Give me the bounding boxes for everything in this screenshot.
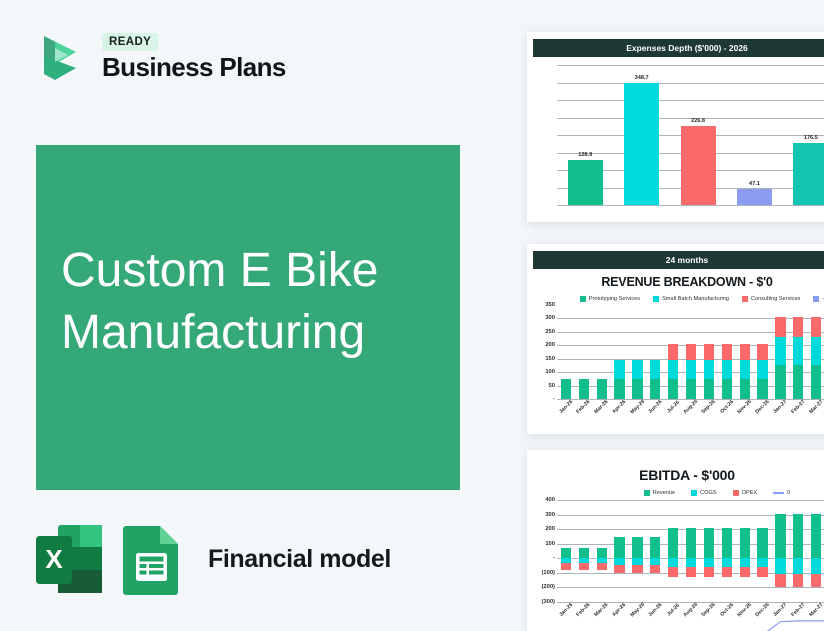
- bar-segment: [650, 537, 660, 558]
- bar-segment: [686, 528, 696, 558]
- x-axis-label: Mar-26: [594, 399, 610, 415]
- bar-segment: [614, 379, 624, 399]
- bar-value-label: 226.8: [691, 118, 705, 124]
- bar-segment: [704, 528, 714, 558]
- slide-root: READY Business Plans Custom E Bike Manuf…: [0, 0, 824, 631]
- stacked-bar[interactable]: [614, 500, 624, 602]
- page-title: Custom E Bike Manufacturing: [61, 240, 446, 365]
- chart1-header: Expenses Depth ($'000) - 2026: [533, 39, 824, 57]
- bar-segment: [811, 365, 821, 399]
- bar-segment: [686, 344, 696, 360]
- bar-value-label: 47.1: [749, 181, 760, 187]
- y-axis-tick: 50: [549, 383, 555, 389]
- x-axis-label: Dec-26: [754, 399, 770, 415]
- bar-segment: [775, 317, 785, 337]
- bar-slot: [575, 500, 593, 602]
- bar-segment: [668, 379, 678, 399]
- x-label-slot: Feb-26: [575, 602, 593, 613]
- bar[interactable]: 176.5: [793, 143, 824, 205]
- legend-item: Revenue: [644, 490, 675, 496]
- bar-segment: [793, 558, 803, 574]
- bar-segment: [614, 558, 624, 565]
- y-axis: 35030025020015010050-: [531, 305, 557, 399]
- stacked-bar[interactable]: [686, 500, 696, 602]
- x-label-slot: Oct-26: [718, 399, 736, 410]
- bar-slot: [736, 500, 754, 602]
- x-axis-label: Mar-26: [594, 602, 610, 618]
- bar-slot: 348.7: [613, 65, 669, 205]
- bar-segment: [775, 574, 785, 587]
- bar-segment: [704, 360, 714, 379]
- bar-slot: [754, 500, 772, 602]
- stacked-bar[interactable]: [775, 317, 785, 399]
- bar-segment: [722, 379, 732, 399]
- x-axis-label: Jan-26: [558, 602, 574, 618]
- bar-segment: [740, 379, 750, 399]
- bar-segment: [722, 567, 732, 577]
- bar-slot: 128.9: [557, 65, 613, 205]
- x-label-slot: Oct-26: [718, 602, 736, 613]
- bar-slot: [611, 305, 629, 399]
- gridline: [557, 205, 824, 206]
- x-label-slot: Aug-26: [682, 602, 700, 613]
- stacked-bar[interactable]: [740, 344, 750, 399]
- bar-segment: [614, 537, 624, 558]
- bar-slot: [593, 500, 611, 602]
- bar-segment: [561, 563, 571, 570]
- chart-card-revenue-breakdown[interactable]: 24 months REVENUE BREAKDOWN - $'0 Protot…: [527, 244, 824, 434]
- bar-segment: [632, 379, 642, 399]
- bar-slot: [629, 305, 647, 399]
- x-axis-label: Dec-26: [754, 602, 770, 618]
- x-axis-label: May-26: [629, 399, 646, 416]
- hero-panel: Custom E Bike Manufacturing: [36, 145, 460, 490]
- bar-segment: [704, 558, 714, 566]
- bar-segment: [579, 548, 589, 559]
- stacked-bar[interactable]: [686, 344, 696, 399]
- x-label-slot: Mar-26: [593, 602, 611, 613]
- bar-segment: [632, 558, 642, 565]
- x-label-slot: Sep-26: [700, 602, 718, 613]
- x-label-slot: Jul-26: [664, 602, 682, 613]
- y-axis-tick: 400: [545, 497, 555, 503]
- x-label-slot: Jan-27: [772, 602, 790, 613]
- legend-item: -: [813, 296, 824, 302]
- y-axis-tick: 100: [545, 541, 555, 547]
- bar-slot: [807, 305, 824, 399]
- x-label-slot: Aug-26: [682, 399, 700, 410]
- y-axis: 400300200100-(100)(200)(300): [531, 500, 557, 602]
- stacked-bar[interactable]: [704, 344, 714, 399]
- x-axis-label: Oct-26: [719, 399, 735, 415]
- y-axis-tick: 100: [545, 369, 555, 375]
- x-label-slot: Feb-27: [789, 399, 807, 410]
- bar-segment: [579, 379, 589, 399]
- stacked-bar[interactable]: [561, 379, 571, 399]
- x-label-slot: Apr-26: [611, 399, 629, 410]
- stacked-bar[interactable]: [811, 317, 821, 399]
- stacked-bar[interactable]: [757, 500, 767, 602]
- x-label-slot: May-26: [629, 602, 647, 613]
- x-axis-label: Feb-27: [790, 399, 806, 415]
- stacked-bar[interactable]: [757, 344, 767, 399]
- bar-segment: [632, 565, 642, 573]
- bar-slot: [682, 305, 700, 399]
- bar-slot: [700, 500, 718, 602]
- bar-slot: [593, 305, 611, 399]
- bar-slot: [718, 500, 736, 602]
- bar-segment: [704, 379, 714, 399]
- bar-segment: [668, 558, 678, 566]
- stacked-bar[interactable]: [632, 360, 642, 399]
- legend-swatch: [580, 296, 586, 302]
- bar-slot: [700, 305, 718, 399]
- legend-label: Revenue: [653, 490, 675, 496]
- stacked-bar[interactable]: [668, 500, 678, 602]
- y-axis-tick: 300: [545, 315, 555, 321]
- bar-segment: [668, 567, 678, 577]
- x-axis-label: Jan-26: [558, 399, 574, 415]
- bar-segment: [686, 558, 696, 566]
- stacked-bar[interactable]: [793, 500, 803, 602]
- legend-item: OPEX: [733, 490, 758, 496]
- x-label-slot: Jan-26: [557, 602, 575, 613]
- chart-card-expenses-depth[interactable]: Expenses Depth ($'000) - 2026 128.9348.7…: [527, 32, 824, 222]
- x-axis-label: Aug-26: [683, 399, 700, 416]
- stacked-bar[interactable]: [614, 360, 624, 399]
- bar-segment: [579, 563, 589, 570]
- legend-item: COGS: [691, 490, 716, 496]
- chart2-title: REVENUE BREAKDOWN - $'0: [527, 275, 824, 289]
- x-label-slot: Jun-26: [646, 602, 664, 613]
- bar-segment: [740, 344, 750, 360]
- x-axis-label: Jul-26: [666, 400, 681, 415]
- bar-segment: [811, 514, 821, 558]
- x-axis-label: Feb-27: [790, 602, 806, 618]
- x-axis-label: Jan-27: [773, 399, 789, 415]
- bar-segment: [775, 365, 785, 399]
- bar-segment: [757, 567, 767, 577]
- stacked-bar[interactable]: [793, 317, 803, 399]
- bar[interactable]: 128.9: [568, 160, 603, 205]
- x-label-slot: Apr-26: [611, 602, 629, 613]
- bar-slot: [789, 500, 807, 602]
- google-sheets-icon: [120, 523, 184, 595]
- x-label-slot: Dec-26: [754, 602, 772, 613]
- x-label-slot: May-26: [629, 399, 647, 410]
- chart2-legend: Prototyping ServicesSmall Batch Manufact…: [527, 296, 824, 302]
- bar-segment: [704, 344, 714, 360]
- chart3-x-axis: Jan-26Feb-26Mar-26Apr-26May-26Jun-26Jul-…: [531, 602, 824, 613]
- x-axis-label: Feb-26: [576, 399, 592, 415]
- x-label-slot: Nov-26: [736, 399, 754, 410]
- bar-slot: [754, 305, 772, 399]
- y-axis-tick: 200: [545, 526, 555, 532]
- bar-slot: [772, 500, 790, 602]
- stacked-bar[interactable]: [632, 500, 642, 602]
- bar[interactable]: 226.8: [681, 126, 716, 205]
- bar-segment: [722, 528, 732, 558]
- bar-slot: [682, 500, 700, 602]
- legend-item: Consulting Services: [742, 296, 800, 302]
- bar-segment: [793, 365, 803, 399]
- bar-slot: [646, 500, 664, 602]
- bar-segment: [650, 558, 660, 565]
- legend-swatch: [644, 490, 650, 496]
- legend-item: Prototyping Services: [580, 296, 640, 302]
- bar-segment: [597, 563, 607, 570]
- bar-slot: [664, 500, 682, 602]
- bar-segment: [775, 337, 785, 365]
- bar-segment: [650, 379, 660, 399]
- brand-header: READY Business Plans: [30, 28, 286, 86]
- stacked-bar[interactable]: [811, 500, 821, 602]
- bar-segment: [722, 344, 732, 360]
- legend-item: Small Batch Manufacturing: [653, 296, 729, 302]
- footer-block: X Financial model: [34, 523, 391, 595]
- bar[interactable]: 47.1: [737, 189, 772, 205]
- chart2-header: 24 months: [533, 251, 824, 269]
- chart2-x-axis: Jan-26Feb-26Mar-26Apr-26May-26Jun-26Jul-…: [531, 399, 824, 410]
- x-axis-label: Sep-26: [701, 399, 717, 415]
- bar-segment: [793, 574, 803, 587]
- bar-group: [557, 305, 824, 399]
- stacked-bar[interactable]: [704, 500, 714, 602]
- stacked-bar[interactable]: [597, 500, 607, 602]
- chart1-plot-area: 128.9348.7226.847.1176.5: [531, 65, 824, 205]
- bar-segment: [650, 360, 660, 379]
- x-label-slot: Mar-27: [807, 399, 824, 410]
- x-axis-label: Sep-26: [701, 602, 717, 618]
- bar-segment: [686, 360, 696, 379]
- bar-segment: [722, 558, 732, 566]
- x-label-slot: Jan-26: [557, 399, 575, 410]
- bar-segment: [561, 548, 571, 559]
- x-label-slot: Mar-26: [593, 399, 611, 410]
- legend-label: 0: [787, 490, 790, 496]
- legend-label: OPEX: [742, 490, 758, 496]
- x-label-slot: Sep-26: [700, 399, 718, 410]
- x-axis-label: Jul-26: [666, 603, 681, 618]
- stacked-bar[interactable]: [775, 500, 785, 602]
- bar-segment: [740, 567, 750, 577]
- x-axis-label: Nov-26: [736, 399, 752, 415]
- x-axis-label: Apr-26: [612, 399, 628, 415]
- x-axis-label: Feb-26: [576, 602, 592, 618]
- bar-slot: 176.5: [783, 65, 824, 205]
- bar-segment: [632, 537, 642, 558]
- y-axis-tick: 300: [545, 512, 555, 518]
- bar-group: 128.9348.7226.847.1176.5: [557, 65, 824, 205]
- bar-value-label: 128.9: [578, 152, 592, 158]
- bar-value-label: 176.5: [804, 135, 818, 141]
- y-axis-tick: (200): [541, 584, 555, 590]
- bar-segment: [614, 565, 624, 573]
- y-axis-tick: 150: [545, 356, 555, 362]
- bar-segment: [722, 360, 732, 379]
- bar-segment: [740, 558, 750, 566]
- stacked-bar[interactable]: [740, 500, 750, 602]
- y-axis-tick: 200: [545, 342, 555, 348]
- x-axis-label: Oct-26: [719, 602, 735, 618]
- legend-label: Prototyping Services: [589, 296, 640, 302]
- bar-segment: [740, 360, 750, 379]
- x-axis-label: May-26: [629, 602, 646, 619]
- stacked-bar[interactable]: [579, 500, 589, 602]
- stacked-bar[interactable]: [668, 344, 678, 399]
- bar-segment: [757, 360, 767, 379]
- legend-swatch: [742, 296, 748, 302]
- x-axis-label: Apr-26: [612, 602, 628, 618]
- legend-swatch: [653, 296, 659, 302]
- stacked-bar[interactable]: [561, 500, 571, 602]
- bar-segment: [597, 379, 607, 399]
- stacked-bar[interactable]: [722, 500, 732, 602]
- bar-slot: 47.1: [726, 65, 782, 205]
- bar-slot: [557, 305, 575, 399]
- bar-segment: [561, 379, 571, 399]
- x-axis-label: Jan-27: [773, 602, 789, 618]
- chart3-plot-area: 400300200100-(100)(200)(300): [531, 500, 824, 602]
- bar-slot: [629, 500, 647, 602]
- x-axis-label: Aug-26: [683, 602, 700, 619]
- ready-badge: READY: [102, 33, 158, 51]
- legend-item: 0: [773, 490, 790, 496]
- bar-segment: [757, 528, 767, 558]
- x-axis-label: Nov-26: [736, 602, 752, 618]
- chart2-plot-area: 35030025020015010050-: [531, 305, 824, 399]
- bar-value-label: 348.7: [635, 75, 649, 81]
- bar-segment: [775, 514, 785, 558]
- bar-slot: [646, 305, 664, 399]
- y-axis-tick: (100): [541, 570, 555, 576]
- legend-swatch: [773, 492, 784, 494]
- bar-segment: [614, 360, 624, 379]
- x-axis-label: Jun-26: [647, 602, 663, 618]
- bar-segment: [793, 317, 803, 337]
- brand-text-block: READY Business Plans: [102, 33, 286, 81]
- bar-slot: [664, 305, 682, 399]
- x-label-slot: Jul-26: [664, 399, 682, 410]
- x-label-slot: Jan-27: [772, 399, 790, 410]
- x-label-slot: Feb-27: [789, 602, 807, 613]
- brand-name: Business Plans: [102, 54, 286, 81]
- chart-card-ebitda[interactable]: EBITDA - $'000 RevenueCOGSOPEX0 40030020…: [527, 450, 824, 631]
- bar-segment: [811, 558, 821, 574]
- x-label-slot: Nov-26: [736, 602, 754, 613]
- svg-text:X: X: [45, 544, 63, 574]
- y-axis-tick: 350: [545, 302, 555, 308]
- bar-slot: [611, 500, 629, 602]
- legend-swatch: [691, 490, 697, 496]
- play-triangles-logo-icon: [30, 28, 86, 86]
- bar-slot: [789, 305, 807, 399]
- legend-swatch: [813, 296, 819, 302]
- bar-segment: [632, 360, 642, 379]
- bar-segment: [793, 337, 803, 365]
- bar-slot: [772, 305, 790, 399]
- legend-swatch: [733, 490, 739, 496]
- microsoft-excel-icon: X: [34, 523, 104, 595]
- x-axis-label: Mar-27: [808, 602, 824, 618]
- bar-segment: [668, 344, 678, 360]
- x-label-slot: Mar-27: [807, 602, 824, 613]
- y-axis-tick: -: [553, 555, 555, 561]
- x-label-slot: Feb-26: [575, 399, 593, 410]
- legend-label: Small Batch Manufacturing: [662, 296, 729, 302]
- chart3-legend: RevenueCOGSOPEX0: [527, 490, 824, 496]
- bar-segment: [757, 344, 767, 360]
- bar-segment: [668, 528, 678, 558]
- stacked-bar[interactable]: [650, 360, 660, 399]
- stacked-bar[interactable]: [579, 379, 589, 399]
- bar-segment: [811, 574, 821, 587]
- bar-segment: [668, 360, 678, 379]
- x-label-slot: Dec-26: [754, 399, 772, 410]
- bar-slot: [575, 305, 593, 399]
- bar-segment: [686, 567, 696, 577]
- stacked-bar[interactable]: [650, 500, 660, 602]
- bar-segment: [775, 558, 785, 574]
- bar-segment: [757, 379, 767, 399]
- bar-segment: [650, 565, 660, 573]
- bar-slot: [807, 500, 824, 602]
- stacked-bar[interactable]: [597, 379, 607, 399]
- legend-label: Consulting Services: [751, 296, 800, 302]
- bar-segment: [811, 337, 821, 365]
- bar-segment: [757, 558, 767, 566]
- legend-label: COGS: [700, 490, 716, 496]
- bar-segment: [793, 514, 803, 558]
- bar-group: [557, 500, 824, 602]
- chart3-title: EBITDA - $'000: [527, 467, 824, 483]
- bar-segment: [704, 567, 714, 577]
- bar-slot: [557, 500, 575, 602]
- x-label-slot: Jun-26: [646, 399, 664, 410]
- x-axis-label: Mar-27: [808, 399, 824, 415]
- x-axis-label: Jun-26: [647, 399, 663, 415]
- bar-slot: [718, 305, 736, 399]
- bar-segment: [811, 317, 821, 337]
- bar-segment: [597, 548, 607, 559]
- y-axis-tick: 250: [545, 329, 555, 335]
- bar-slot: 226.8: [670, 65, 726, 205]
- stacked-bar[interactable]: [722, 344, 732, 399]
- bar-segment: [740, 528, 750, 558]
- bar[interactable]: 348.7: [624, 83, 659, 205]
- bar-slot: [736, 305, 754, 399]
- footer-label: Financial model: [208, 545, 391, 574]
- bar-segment: [686, 379, 696, 399]
